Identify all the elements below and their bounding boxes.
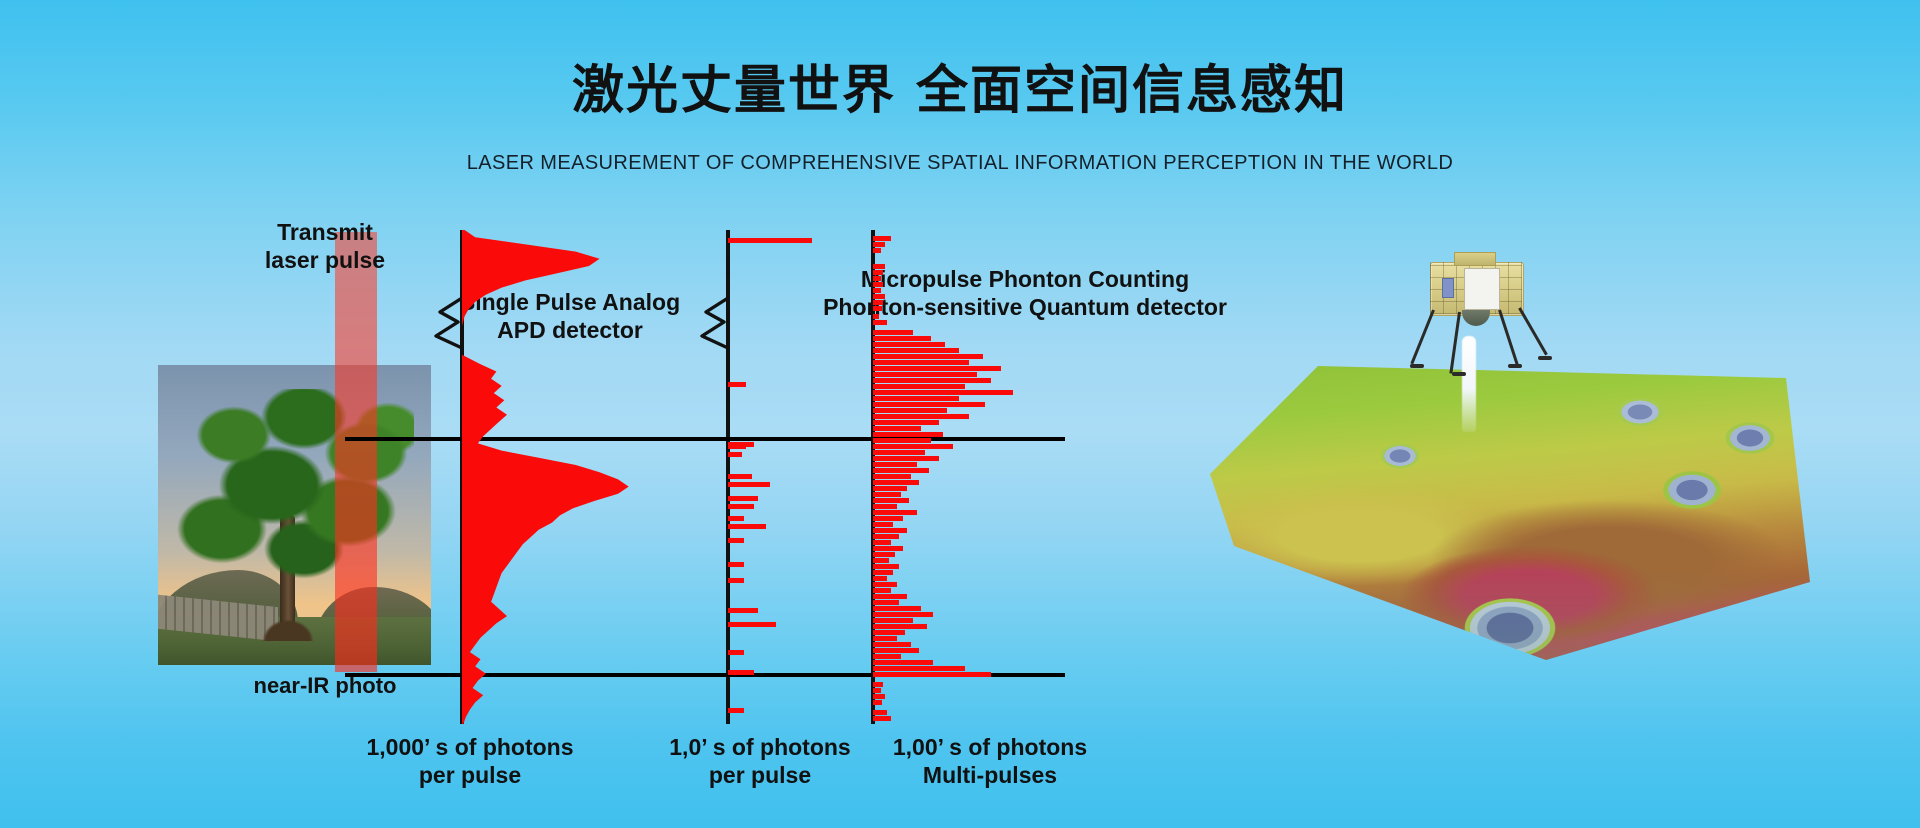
photon-count-bar: [873, 570, 893, 575]
photon-count-bar: [873, 248, 881, 253]
photon-count-bar: [873, 594, 907, 599]
photon-count-bar: [873, 504, 897, 509]
photon-count-bar: [873, 396, 959, 401]
lander-foot-2: [1452, 372, 1466, 376]
photon-count-bar: [873, 384, 965, 389]
lander-foot-4: [1538, 356, 1552, 360]
photon-tick: [728, 562, 744, 567]
photon-count-bar: [873, 624, 927, 629]
photon-count-bar: [873, 294, 885, 299]
photon-count-bar: [873, 648, 919, 653]
photon-count-bar: [873, 540, 891, 545]
photon-tick: [728, 482, 770, 487]
photon-tick: [728, 708, 744, 713]
photon-count-bar: [873, 492, 901, 497]
photon-count-bar: [873, 264, 885, 269]
photon-count-bar: [873, 654, 901, 659]
photon-count-bar: [873, 242, 885, 247]
lander-leg-4: [1518, 307, 1548, 355]
photon-tick: [728, 524, 766, 529]
photon-tick: [728, 670, 754, 675]
photon-count-bar: [873, 402, 985, 407]
photon-count-bar: [873, 354, 983, 359]
axis-break-sparse: [698, 296, 732, 350]
photon-count-bar: [873, 660, 933, 665]
photon-count-bar: [873, 456, 939, 461]
photon-tick: [728, 382, 746, 387]
photon-count-bar: [873, 546, 903, 551]
photon-count-bar: [873, 576, 887, 581]
lander-foot-3: [1508, 364, 1522, 368]
photon-count-bar: [873, 716, 891, 721]
photon-count-bar: [873, 534, 899, 539]
near-ir-photo: [158, 365, 431, 665]
photon-count-bar: [873, 366, 1001, 371]
photon-count-bar: [873, 270, 883, 275]
photon-count-bar: [873, 342, 945, 347]
photon-count-bar: [873, 694, 885, 699]
photon-count-bar: [873, 606, 921, 611]
photon-count-bar: [873, 700, 882, 705]
photon-count-bar: [873, 672, 991, 677]
photon-count-bar: [873, 426, 921, 431]
lidar-waveform-diagram: Transmit laser pulse near-IR photo Singl…: [0, 0, 1120, 828]
photon-count-bar: [873, 282, 883, 287]
photon-count-bar: [873, 558, 889, 563]
near-ir-photo-label: near-IR photo: [215, 673, 435, 700]
photon-count-bar: [873, 510, 917, 515]
lander-engine-nozzle: [1462, 310, 1490, 326]
photon-count-bar: [873, 486, 907, 491]
lidar-dem-scene: [1150, 270, 1870, 710]
photon-count-bar: [873, 528, 907, 533]
photon-tick: [728, 538, 744, 543]
photon-count-bar: [873, 330, 913, 335]
photon-count-bar: [873, 462, 917, 467]
photon-count-bar: [873, 618, 913, 623]
photon-count-bar: [873, 432, 943, 437]
photon-count-bar: [873, 444, 953, 449]
footer-label-analog: 1,000’ s of photons per pulse: [330, 733, 610, 789]
lander-white-panel: [1464, 268, 1500, 310]
3d-dem-terrain: [1210, 360, 1810, 660]
axis-break-analog: [432, 296, 466, 350]
photon-count-bar: [873, 306, 882, 311]
photon-count-bar: [873, 582, 897, 587]
photon-count-bar: [873, 288, 881, 293]
footer-label-sparse: 1,0’ s of photons per pulse: [630, 733, 890, 789]
photon-count-bar: [873, 474, 911, 479]
photon-tick: [728, 608, 758, 613]
photon-count-bar: [873, 236, 891, 241]
photon-count-bar: [873, 564, 899, 569]
photon-tick: [728, 474, 752, 479]
photon-count-bar: [873, 438, 931, 443]
waveform-sparse-ticks: [728, 230, 858, 724]
photon-count-bar: [873, 336, 931, 341]
tree-root: [262, 619, 314, 641]
photon-count-bar: [873, 552, 895, 557]
lander-leg-3: [1498, 310, 1519, 366]
photon-count-bar: [873, 378, 991, 383]
photon-tick: [728, 238, 812, 243]
photon-tick: [728, 650, 744, 655]
photon-count-bar: [873, 468, 929, 473]
photon-count-bar: [873, 348, 959, 353]
photon-tick: [728, 516, 744, 521]
photon-tick: [728, 504, 754, 509]
photon-count-bar: [873, 450, 925, 455]
lunar-lander: [1412, 252, 1538, 372]
photon-count-bar: [873, 300, 883, 305]
photon-count-bar: [873, 666, 965, 671]
photon-count-bar: [873, 320, 887, 325]
lander-leg-1: [1410, 309, 1435, 364]
laser-beam: [335, 232, 377, 672]
photon-count-bar: [873, 408, 947, 413]
photon-count-bar: [873, 636, 897, 641]
photon-count-bar: [873, 612, 933, 617]
footer-label-micropulse: 1,00’ s of photons Multi-pulses: [855, 733, 1125, 789]
photon-count-bar: [873, 314, 879, 319]
photon-tick: [728, 452, 742, 457]
lander-instrument-box: [1442, 278, 1454, 298]
photon-count-bar: [873, 414, 969, 419]
lander-leg-2: [1449, 312, 1461, 374]
photon-tick: [728, 578, 744, 583]
photon-count-bar: [873, 600, 899, 605]
lander-top-deck: [1454, 252, 1496, 266]
waveform-micropulse-bars: [873, 230, 1048, 724]
infographic-canvas: 激光丈量世界 全面空间信息感知 LASER MEASUREMENT OF COM…: [0, 0, 1920, 828]
lander-foot-1: [1410, 364, 1424, 368]
photon-tick: [728, 496, 758, 501]
waveform-analog: [462, 230, 642, 724]
photon-count-bar: [873, 710, 887, 715]
photon-count-bar: [873, 420, 939, 425]
photon-tick: [728, 622, 776, 627]
photon-count-bar: [873, 390, 1013, 395]
photon-count-bar: [873, 682, 883, 687]
photon-tick: [728, 442, 754, 447]
photon-count-bar: [873, 522, 893, 527]
photon-count-bar: [873, 372, 977, 377]
photon-count-bar: [873, 688, 881, 693]
photon-count-bar: [873, 516, 903, 521]
photon-count-bar: [873, 630, 905, 635]
tree-canopy: [176, 389, 414, 585]
photon-count-bar: [873, 642, 911, 647]
transmit-laser-pulse-label: Transmit laser pulse: [225, 218, 425, 274]
photon-count-bar: [873, 588, 891, 593]
photon-count-bar: [873, 360, 969, 365]
photon-count-bar: [873, 498, 909, 503]
photon-count-bar: [873, 480, 919, 485]
photon-count-bar: [873, 276, 881, 281]
